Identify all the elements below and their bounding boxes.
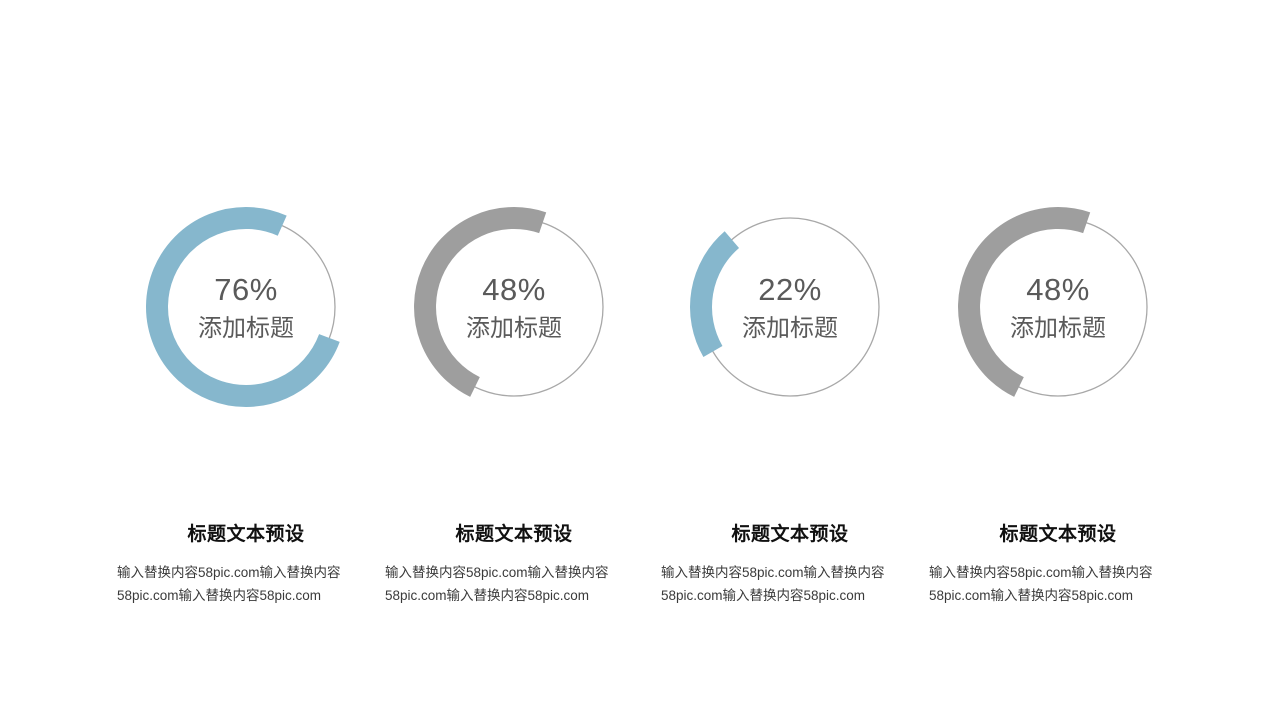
donut-progress-arc-2 (425, 218, 543, 387)
donut-chart-1[interactable]: 76% 添加标题 (136, 197, 356, 417)
block-title-3: 标题文本预设 (661, 524, 919, 547)
ring-column-1[interactable]: 76% 添加标题 标题文本预设 输入替换内容58pic.com输入替换内容58p… (112, 0, 380, 720)
donut-chart-4[interactable]: 48% 添加标题 (948, 197, 1168, 417)
text-block-1: 标题文本预设 输入替换内容58pic.com输入替换内容58pic.com输入替… (117, 524, 375, 607)
ring-columns-row: 76% 添加标题 标题文本预设 输入替换内容58pic.com输入替换内容58p… (0, 0, 1280, 720)
block-body-1: 输入替换内容58pic.com输入替换内容58pic.com输入替换内容58pi… (117, 561, 375, 607)
text-block-2: 标题文本预设 输入替换内容58pic.com输入替换内容58pic.com输入替… (385, 524, 643, 607)
donut-svg-3 (680, 197, 900, 417)
donut-progress-arc-3 (701, 240, 732, 352)
block-body-3: 输入替换内容58pic.com输入替换内容58pic.com输入替换内容58pi… (661, 561, 919, 607)
slide-canvas: 76% 添加标题 标题文本预设 输入替换内容58pic.com输入替换内容58p… (0, 0, 1280, 720)
donut-progress-arc-4 (969, 218, 1087, 387)
text-block-3: 标题文本预设 输入替换内容58pic.com输入替换内容58pic.com输入替… (661, 524, 919, 607)
donut-progress-arc-1 (157, 218, 329, 396)
ring-column-3[interactable]: 22% 添加标题 标题文本预设 输入替换内容58pic.com输入替换内容58p… (656, 0, 924, 720)
donut-chart-2[interactable]: 48% 添加标题 (404, 197, 624, 417)
block-body-2: 输入替换内容58pic.com输入替换内容58pic.com输入替换内容58pi… (385, 561, 643, 607)
donut-svg-2 (404, 197, 624, 417)
block-title-1: 标题文本预设 (117, 524, 375, 547)
block-title-4: 标题文本预设 (929, 524, 1187, 547)
ring-column-4[interactable]: 48% 添加标题 标题文本预设 输入替换内容58pic.com输入替换内容58p… (924, 0, 1192, 720)
donut-chart-3[interactable]: 22% 添加标题 (680, 197, 900, 417)
donut-svg-1 (136, 197, 356, 417)
block-title-2: 标题文本预设 (385, 524, 643, 547)
ring-column-2[interactable]: 48% 添加标题 标题文本预设 输入替换内容58pic.com输入替换内容58p… (380, 0, 648, 720)
donut-svg-4 (948, 197, 1168, 417)
block-body-4: 输入替换内容58pic.com输入替换内容58pic.com输入替换内容58pi… (929, 561, 1187, 607)
text-block-4: 标题文本预设 输入替换内容58pic.com输入替换内容58pic.com输入替… (929, 524, 1187, 607)
